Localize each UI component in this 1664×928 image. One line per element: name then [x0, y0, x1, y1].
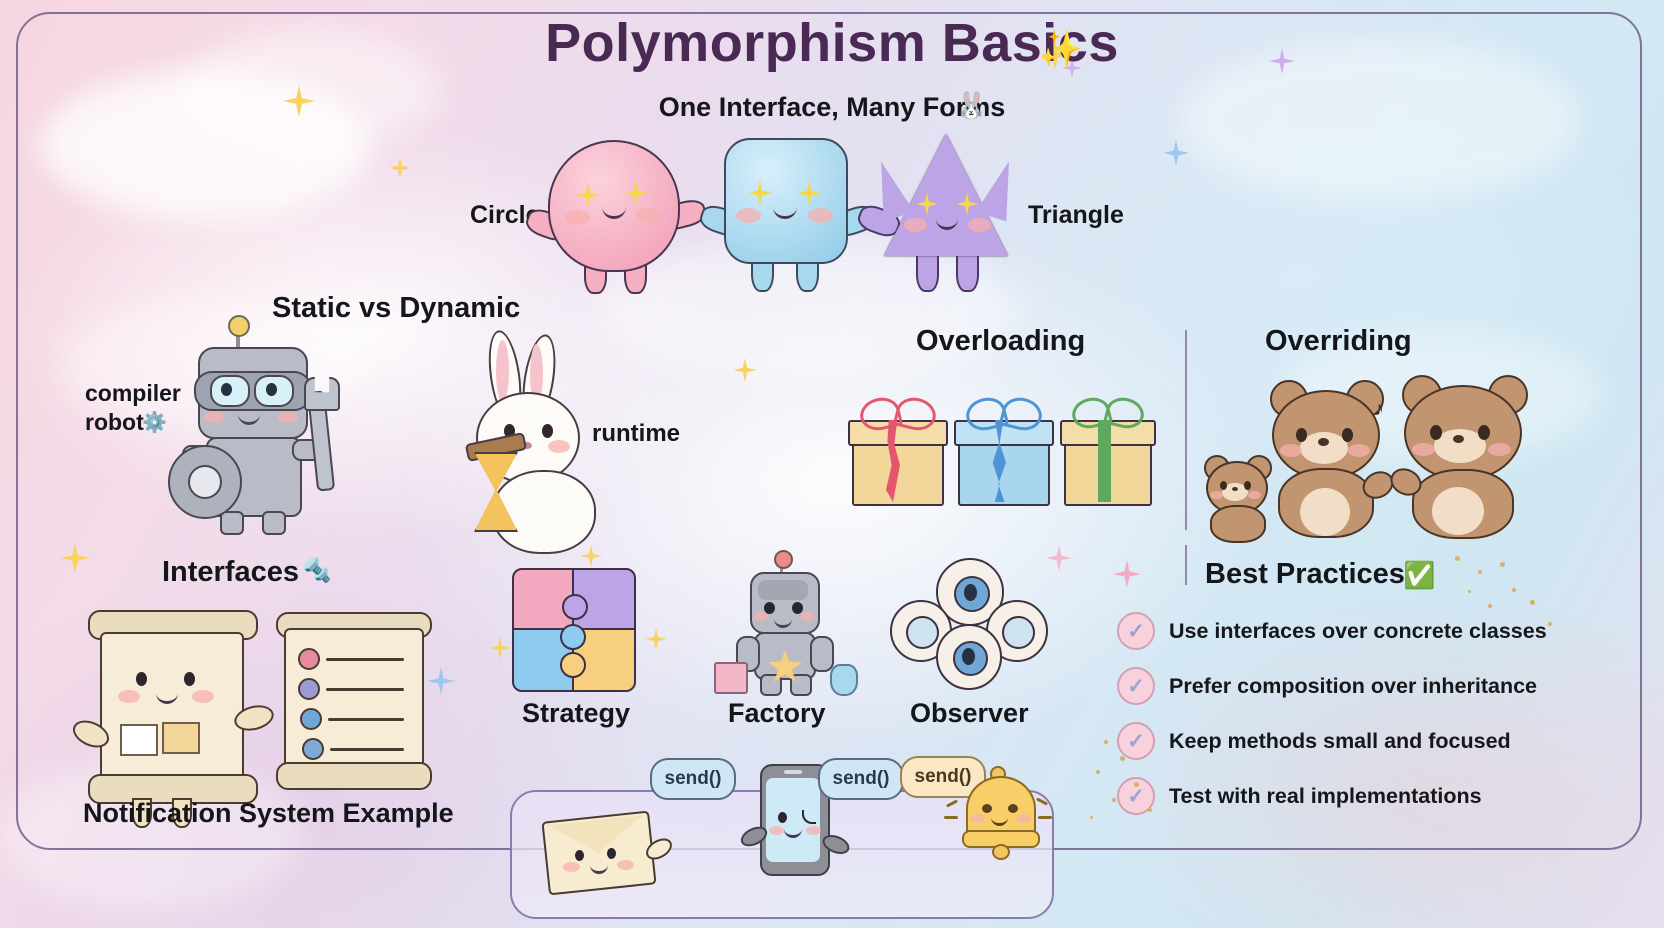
- large-bear: [1396, 375, 1536, 533]
- section-heading-overriding: Overriding: [1265, 325, 1412, 358]
- puzzle-icon: [512, 568, 632, 688]
- page-subtitle: One Interface, Many Forms: [0, 92, 1664, 123]
- interfaces-caption: Notification System Example: [83, 798, 454, 829]
- runtime-label: runtime: [592, 420, 680, 448]
- pattern-label-strategy: Strategy: [522, 698, 630, 729]
- sparkle-icon: [389, 157, 411, 179]
- section-divider: [1185, 330, 1187, 530]
- section-heading-interfaces: Interfaces: [162, 556, 299, 589]
- send-bubble-phone: send(): [818, 758, 904, 800]
- check-circle-icon: ✓: [1117, 612, 1155, 650]
- checklist-scroll: [278, 612, 428, 802]
- circle-character: [540, 140, 690, 290]
- best-practice-text: Keep methods small and focused: [1169, 729, 1511, 754]
- sparkle-dust: [1096, 770, 1100, 774]
- best-practice-item: ✓ Test with real implementations: [1117, 777, 1537, 815]
- sparkle-icon: [1046, 545, 1072, 571]
- sparkle-dust: [1104, 740, 1108, 744]
- compiler-robot-label-line2: robot: [85, 409, 144, 436]
- sparkle-icon: [645, 628, 667, 650]
- page-title: Polymorphism Basics: [0, 12, 1664, 74]
- rabbit-icon: 🐰: [955, 90, 987, 121]
- best-practice-text: Use interfaces over concrete classes: [1169, 619, 1547, 644]
- gift-box-blue: [954, 400, 1050, 504]
- sparkle-dust: [1120, 756, 1125, 761]
- envelope-sender: [545, 812, 655, 892]
- gift-box-green: [1060, 400, 1152, 504]
- sparkle-dust: [1488, 604, 1492, 608]
- check-mark-button-icon: ✅: [1403, 560, 1435, 591]
- sparkle-dust: [1134, 782, 1139, 787]
- triangle-character: [872, 132, 1022, 290]
- best-practice-text: Prefer composition over inheritance: [1169, 674, 1537, 699]
- sparkle-dust: [1468, 590, 1471, 593]
- square-character: [718, 138, 858, 290]
- eyes-icon: [890, 558, 1045, 688]
- check-circle-icon: ✓: [1117, 667, 1155, 705]
- sparkle-icon: [1113, 560, 1141, 588]
- sparkle-icon: [427, 667, 455, 695]
- sparkle-dust: [1455, 556, 1460, 561]
- music-note-icon: ♪: [1374, 398, 1384, 421]
- bell-sender: [958, 766, 1048, 866]
- sparkle-dust: [1148, 808, 1152, 812]
- section-heading-overloading: Overloading: [916, 325, 1085, 358]
- best-practices-list: ✓ Use interfaces over concrete classes ✓…: [1117, 612, 1537, 832]
- pattern-label-observer: Observer: [910, 698, 1029, 729]
- scroll-character: [88, 608, 258, 823]
- best-practice-text: Test with real implementations: [1169, 784, 1482, 809]
- sparkle-icon: [60, 543, 90, 573]
- gear-icon: ⚙️: [142, 410, 167, 435]
- compiler-robot-label-line1: compiler: [85, 380, 181, 407]
- shape-label-triangle: Triangle: [1028, 201, 1124, 230]
- medium-bear: [1262, 380, 1392, 530]
- sparkle-icon: [489, 637, 511, 659]
- pattern-label-factory: Factory: [728, 698, 826, 729]
- robot-icon: [724, 558, 844, 693]
- sparkle-dust: [1112, 798, 1116, 802]
- section-divider: [1185, 545, 1187, 585]
- sparkle-icon: [1163, 140, 1189, 166]
- sparkles-icon: ✨: [1038, 28, 1083, 70]
- bolt-icon: 🔩: [302, 556, 332, 585]
- best-practice-item: ✓ Keep methods small and focused: [1117, 722, 1537, 760]
- sparkle-dust: [1478, 570, 1482, 574]
- compiler-robot: [180, 325, 380, 525]
- sparkle-icon: [580, 545, 602, 567]
- best-practice-item: ✓ Use interfaces over concrete classes: [1117, 612, 1537, 650]
- send-bubble-envelope: send(): [650, 758, 736, 800]
- section-heading-static-dynamic: Static vs Dynamic: [272, 292, 520, 325]
- infographic-canvas: Polymorphism Basics ✨ One Interface, Man…: [0, 0, 1664, 928]
- sparkle-dust: [1548, 622, 1552, 626]
- sparkle-dust: [1500, 562, 1505, 567]
- sparkle-dust: [1512, 588, 1516, 592]
- section-heading-best-practices: Best Practices: [1205, 558, 1405, 591]
- gift-box-red: [848, 400, 944, 504]
- check-circle-icon: ✓: [1117, 722, 1155, 760]
- sparkle-dust: [1530, 600, 1535, 605]
- sparkle-dust: [1090, 816, 1093, 819]
- best-practice-item: ✓ Prefer composition over inheritance: [1117, 667, 1537, 705]
